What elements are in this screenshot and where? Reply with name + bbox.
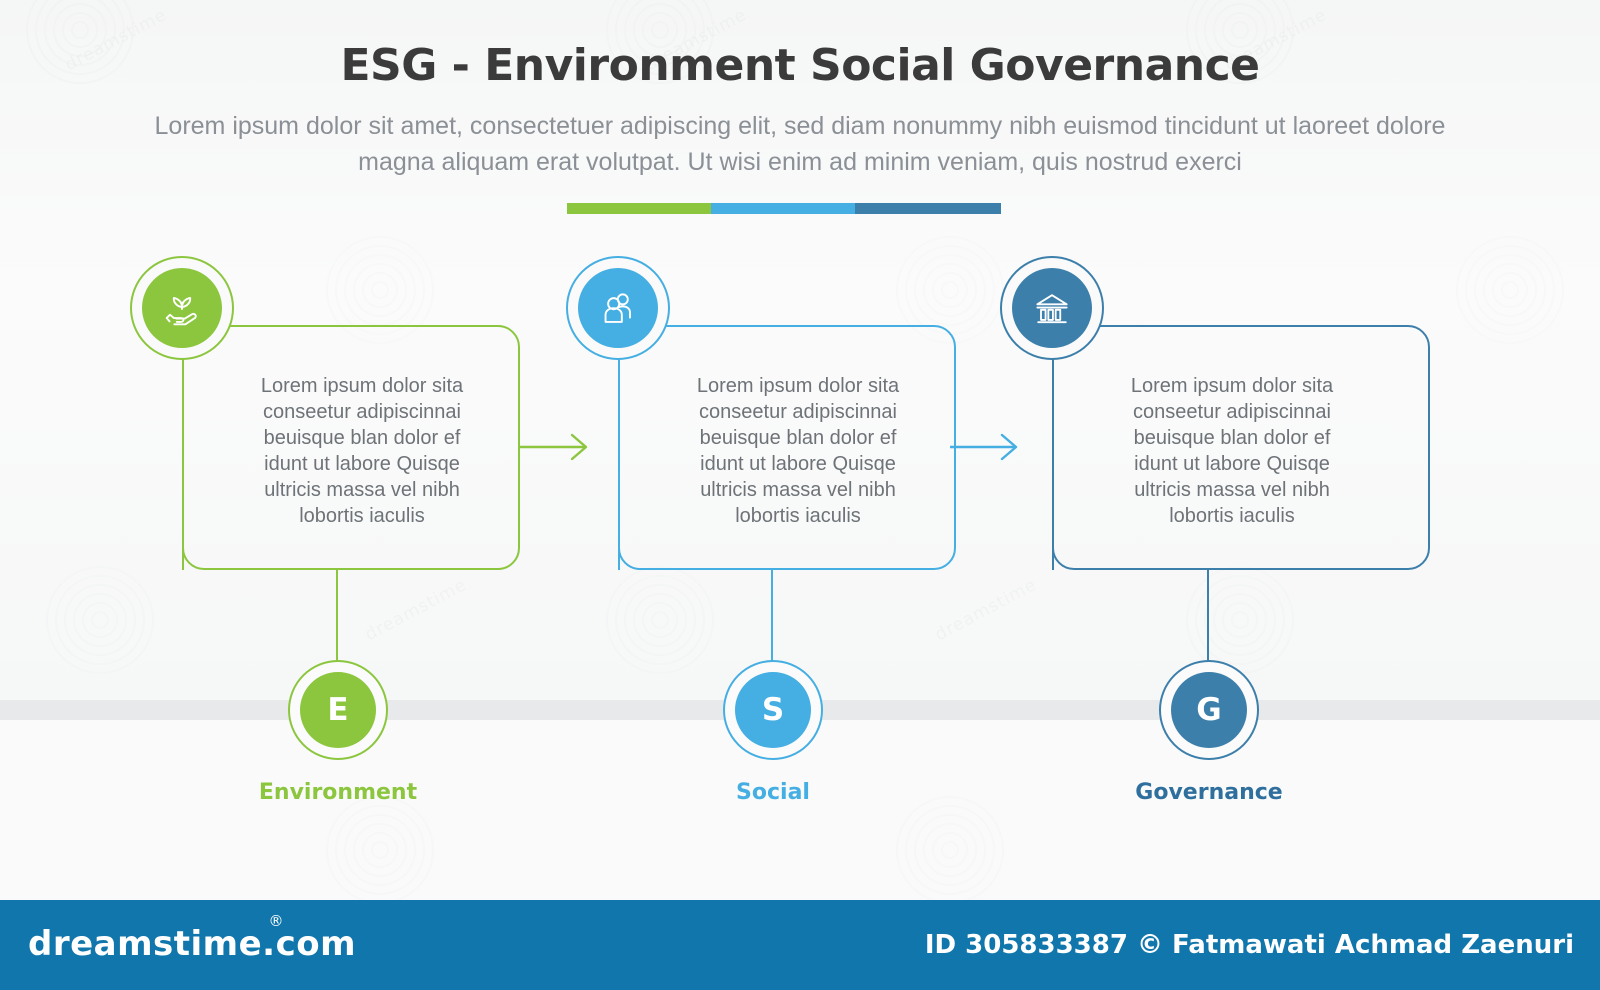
icon-badge-social[interactable] xyxy=(566,256,670,360)
letter-badge-social[interactable]: S xyxy=(723,660,823,760)
step-caption-environment: Environment xyxy=(168,780,508,805)
infographic-canvas: dreamstime dreamstime dreamstime dreamst… xyxy=(0,0,1600,990)
icon-badge-environment[interactable] xyxy=(130,256,234,360)
connector-stem-vertical xyxy=(1052,330,1054,570)
content-card-governance: Lorem ipsum dolor sita conseetur adipisc… xyxy=(1052,325,1430,570)
step-caption-governance: Governance xyxy=(1039,780,1379,805)
tricolor-progress-bar xyxy=(567,203,1001,214)
letter-badge-text: S xyxy=(735,672,811,748)
letter-badge-text: E xyxy=(300,672,376,748)
connector-stem-vertical xyxy=(618,330,620,570)
connector-stem-vertical xyxy=(182,330,184,570)
arrow-environment-to-social xyxy=(520,432,610,462)
card-body-text: Lorem ipsum dolor sita conseetur adipisc… xyxy=(678,373,918,529)
card-body-text: Lorem ipsum dolor sita conseetur adipisc… xyxy=(242,373,482,529)
letter-badge-text: G xyxy=(1171,672,1247,748)
icon-badge-governance[interactable] xyxy=(1000,256,1104,360)
colorbar-segment-governance xyxy=(855,203,1001,214)
image-credit: ID 305833387 © Fatmawati Achmad Zaenuri xyxy=(925,930,1574,960)
arrow-social-to-governance xyxy=(950,432,1040,462)
colorbar-segment-social xyxy=(711,203,855,214)
letter-badge-environment[interactable]: E xyxy=(288,660,388,760)
page-subtitle: Lorem ipsum dolor sit amet, consectetuer… xyxy=(130,108,1470,180)
card-body-text: Lorem ipsum dolor sita conseetur adipisc… xyxy=(1112,373,1352,529)
two-people-icon xyxy=(578,268,658,348)
footer-bar: dreamstime.com ® ID 305833387 © Fatmawat… xyxy=(0,900,1600,990)
colorbar-segment-environment xyxy=(567,203,711,214)
bank-building-icon xyxy=(1012,268,1092,348)
dreamstime-logo[interactable]: dreamstime.com ® xyxy=(28,924,356,964)
content-card-environment: Lorem ipsum dolor sita conseetur adipisc… xyxy=(182,325,520,570)
letter-badge-governance[interactable]: G xyxy=(1159,660,1259,760)
hand-holding-plant-icon xyxy=(142,268,222,348)
dreamstime-logo-text: dreamstime.com xyxy=(28,924,356,964)
content-card-social: Lorem ipsum dolor sita conseetur adipisc… xyxy=(618,325,956,570)
step-caption-social: Social xyxy=(603,780,943,805)
page-title: ESG - Environment Social Governance xyxy=(0,40,1600,91)
registered-mark-icon: ® xyxy=(269,912,285,930)
